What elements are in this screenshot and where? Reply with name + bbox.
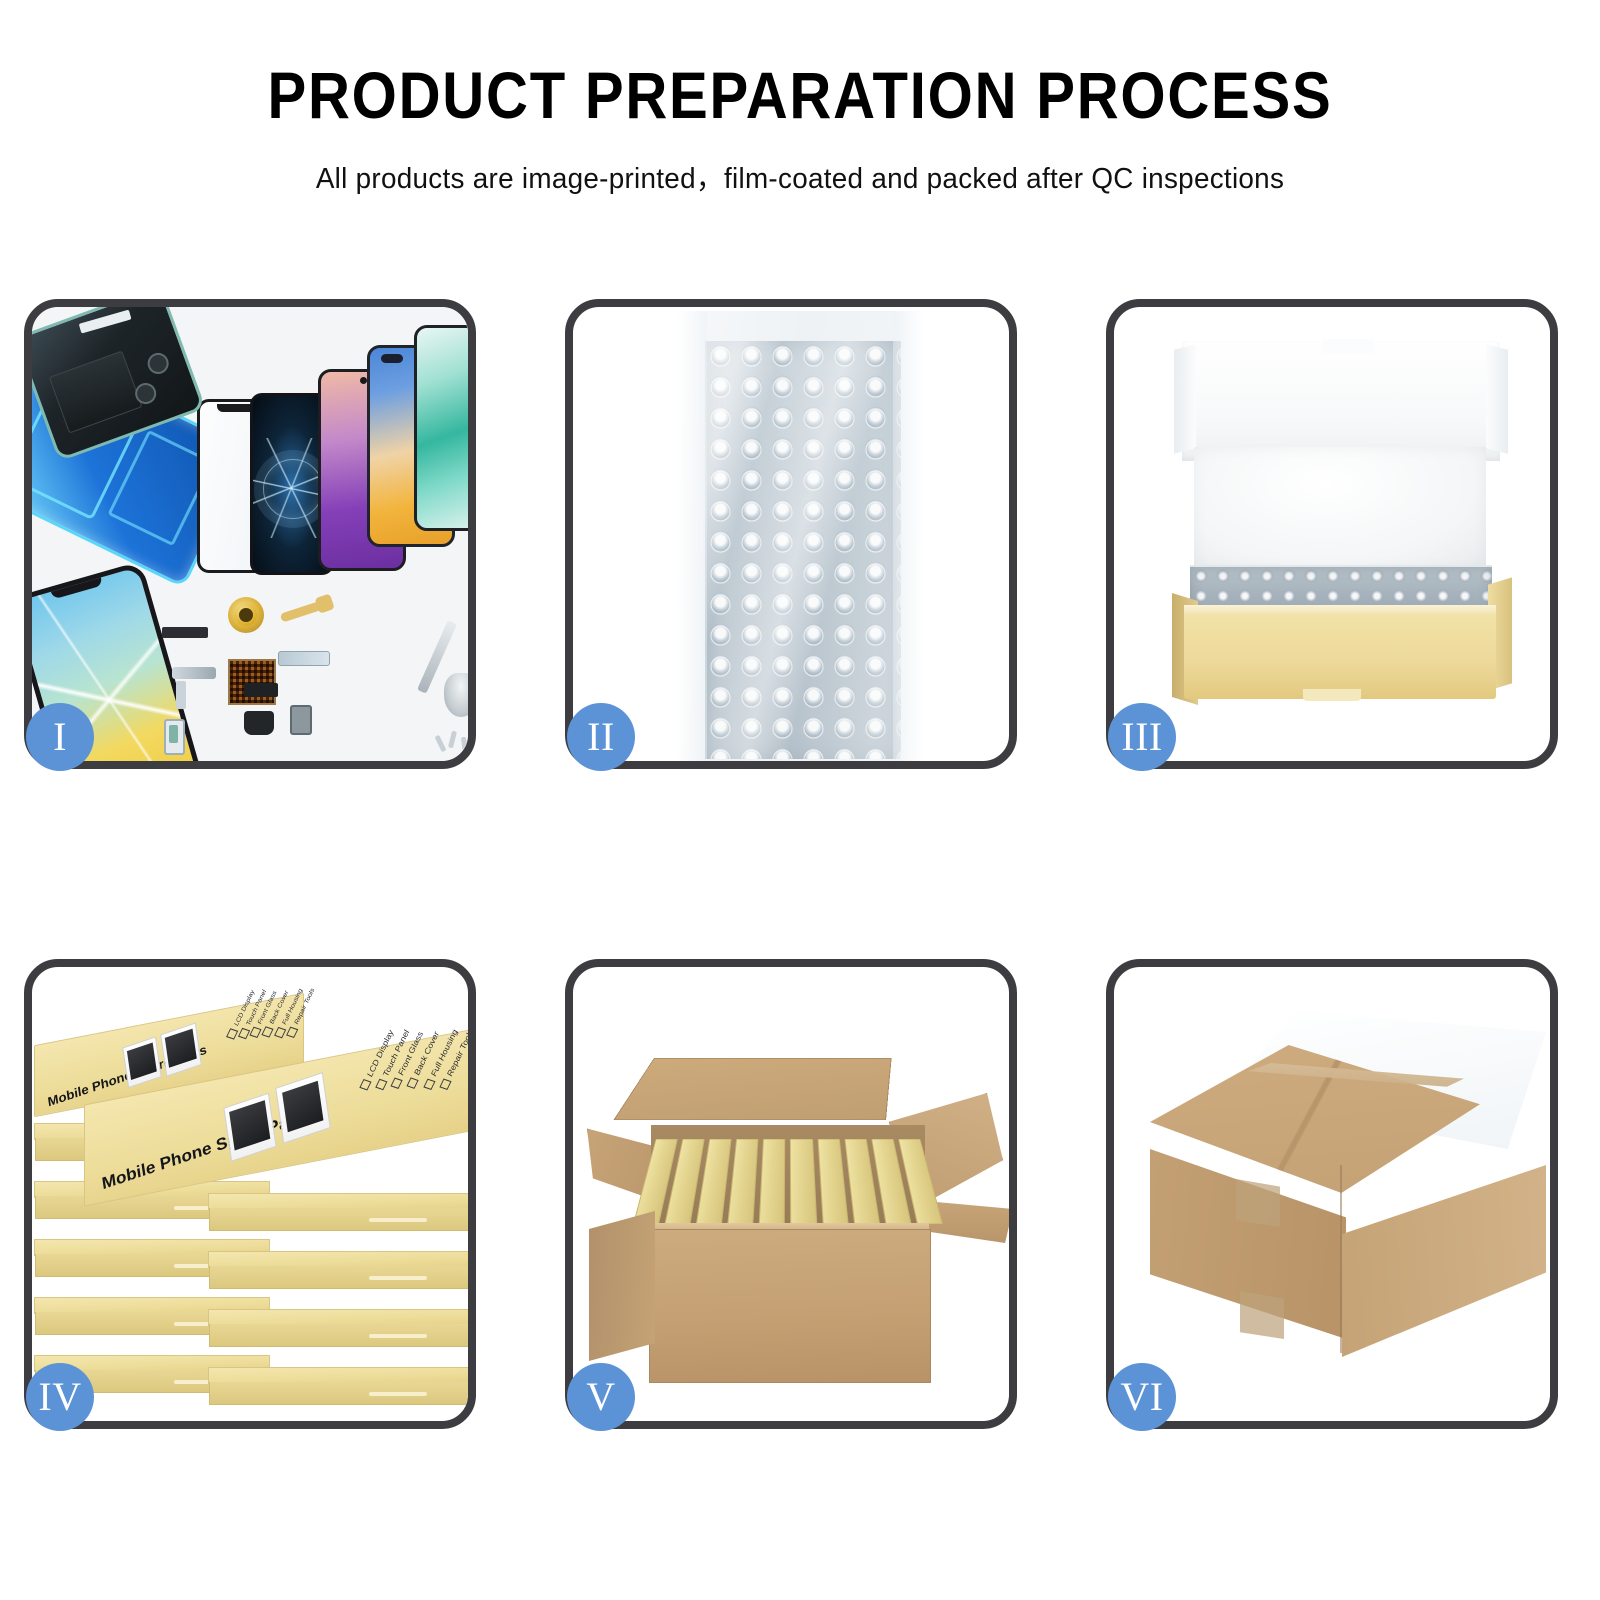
ribbon-cable-part xyxy=(79,310,132,334)
loudspeaker-part xyxy=(244,711,274,735)
flex-cable-part xyxy=(280,600,325,622)
lid-tab xyxy=(1322,339,1374,353)
camera-lens-part xyxy=(145,350,172,377)
open-inner-box xyxy=(1176,337,1506,737)
box-front-panel xyxy=(1184,615,1496,699)
sealing-tape-patch xyxy=(1236,1179,1280,1227)
power-button-flex-part xyxy=(172,667,216,679)
volume-button-flex-part xyxy=(278,651,330,666)
battery-part xyxy=(49,351,143,434)
sealing-tape-patch xyxy=(1240,1291,1284,1339)
step-badge-2: II xyxy=(567,703,635,771)
bubble-wrap-body xyxy=(705,341,901,759)
carton-vertical-edge xyxy=(1340,1165,1342,1353)
bubble-wrap-pouch xyxy=(677,311,923,761)
plastic-sheen xyxy=(705,341,901,759)
step-badge-3: III xyxy=(1108,703,1176,771)
foam-liner xyxy=(1194,447,1486,569)
step-badge-1: I xyxy=(26,703,94,771)
box-thumbnail-1 xyxy=(223,1093,276,1162)
front-camera-part xyxy=(290,705,312,735)
box-thumbnail-1 xyxy=(122,1036,162,1088)
process-step-panel-5[interactable]: V xyxy=(565,959,1017,1429)
box-thumbnail-2 xyxy=(275,1072,331,1144)
pouch-left-edge xyxy=(677,311,707,761)
step-badge-5: V xyxy=(567,1363,635,1431)
step-badge-4: IV xyxy=(26,1363,94,1431)
retail-box-stacks: Mobile Phone Spare Parts LCD Display Tou… xyxy=(32,967,468,1421)
sim-tray-part xyxy=(164,719,185,755)
carton-front-face xyxy=(649,1229,931,1383)
process-step-panel-2[interactable]: II xyxy=(565,299,1017,769)
carton-right-face xyxy=(1342,1165,1546,1357)
cleaning-brush-tool xyxy=(444,673,468,717)
pouch-right-edge xyxy=(893,311,923,761)
panel-1-photo xyxy=(32,307,468,761)
process-step-panel-1[interactable]: I xyxy=(24,299,476,769)
process-step-grid: I II xyxy=(0,0,1600,1600)
panel-3-photo xyxy=(1114,307,1550,761)
panel-6-photo xyxy=(1114,967,1550,1421)
sealed-shipping-carton xyxy=(1140,1019,1546,1389)
carton-contents-retail-boxes xyxy=(633,1140,943,1224)
open-shipping-carton xyxy=(591,1029,997,1401)
box-lid-flap xyxy=(1182,341,1500,461)
retail-box xyxy=(208,1309,468,1326)
panel-4-photo: Mobile Phone Spare Parts LCD Display Tou… xyxy=(32,967,468,1421)
panel-2-photo xyxy=(573,307,1009,761)
retail-box xyxy=(208,1251,468,1268)
ic-chip-part xyxy=(228,659,276,705)
vibration-motor-part xyxy=(244,683,278,697)
teal-phone-display xyxy=(414,325,468,531)
process-step-panel-3[interactable]: III xyxy=(1106,299,1558,769)
process-step-panel-4[interactable]: Mobile Phone Spare Parts LCD Display Tou… xyxy=(24,959,476,1429)
phone-notch xyxy=(381,354,403,363)
carton-left-face xyxy=(589,1211,655,1361)
step-badge-6: VI xyxy=(1108,1363,1176,1431)
retail-box xyxy=(208,1193,468,1210)
retail-box xyxy=(208,1367,468,1384)
process-step-panel-6[interactable]: VI xyxy=(1106,959,1558,1429)
box-thumbnail-2 xyxy=(160,1023,202,1077)
earpiece-speaker-part xyxy=(162,627,208,638)
wireless-charging-coil-part xyxy=(228,597,264,633)
panel-5-photo xyxy=(573,967,1009,1421)
screws-set xyxy=(436,731,468,757)
carton-back-flap xyxy=(613,1058,891,1120)
